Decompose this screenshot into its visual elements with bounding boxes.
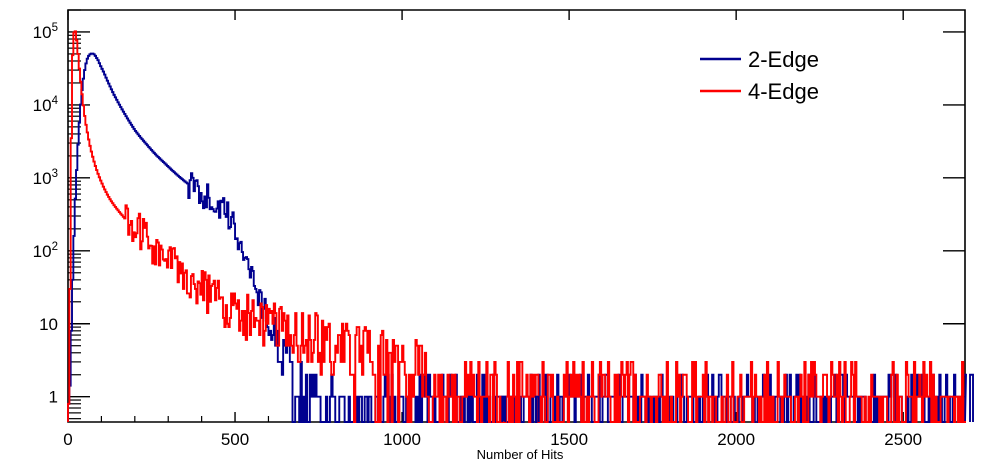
y-tick-label: 10	[39, 315, 58, 334]
legend-label-4-edge: 4-Edge	[748, 79, 819, 104]
x-tick-label: 500	[221, 430, 249, 449]
x-tick-label: 2000	[717, 430, 755, 449]
chart-canvas: 110102103104105 05001000150020002500 Num…	[0, 0, 996, 472]
x-tick-label: 1000	[383, 430, 421, 449]
y-tick-label: 1	[49, 388, 58, 407]
x-axis-title-text: Number of Hits	[477, 447, 564, 462]
x-axis-title: Number of Hits	[477, 447, 564, 462]
legend-label-2-edge: 2-Edge	[748, 47, 819, 72]
x-tick-label: 2500	[884, 430, 922, 449]
histogram-plot: 110102103104105 05001000150020002500 Num…	[0, 0, 996, 472]
x-tick-label: 0	[63, 430, 72, 449]
